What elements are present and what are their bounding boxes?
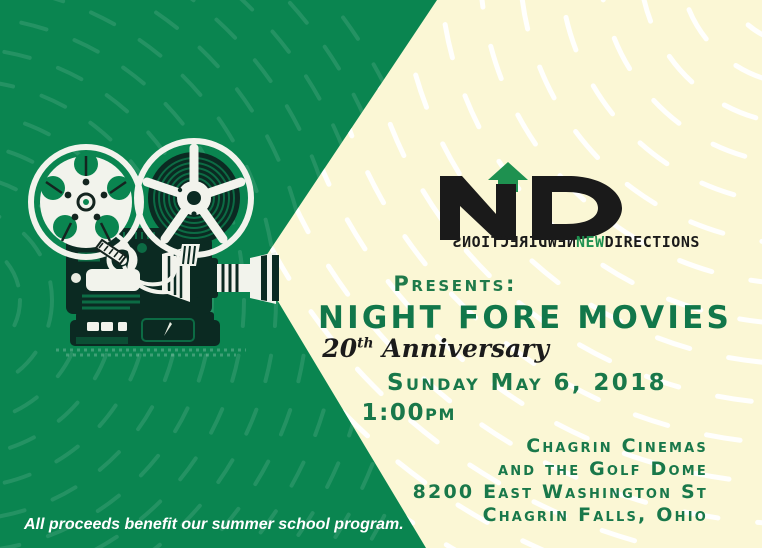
- anniversary-line: 20th Anniversary: [322, 334, 549, 363]
- venue-address: Chagrin Cinemas and the Golf Dome 8200 E…: [413, 435, 708, 527]
- flyer-text-content: Presents: NIGHT FORE MOVIES 20th Anniver…: [300, 0, 762, 548]
- projector-lens: [200, 252, 279, 304]
- event-flyer: NEWDIRECTIONSNEWDIRECTIONS Presents: NIG…: [0, 0, 762, 548]
- proceeds-footnote: All proceeds benefit our summer school p…: [24, 516, 404, 534]
- venue-line-4: Chagrin Falls, Ohio: [413, 504, 708, 527]
- event-date: Sunday May 6, 2018: [387, 370, 667, 396]
- venue-line-3: 8200 East Washington St: [413, 481, 708, 504]
- anniversary-ordinal: th: [357, 336, 373, 352]
- event-time: 1:00pm: [362, 400, 456, 426]
- venue-line-1: Chagrin Cinemas: [413, 435, 708, 458]
- event-title: NIGHT FORE MOVIES: [318, 300, 732, 336]
- presents-label: Presents:: [393, 272, 517, 296]
- venue-line-2: and the Golf Dome: [413, 458, 708, 481]
- anniversary-number: 20: [322, 334, 357, 363]
- film-projector-illustration: [14, 136, 314, 381]
- anniversary-word: Anniversary: [382, 334, 549, 363]
